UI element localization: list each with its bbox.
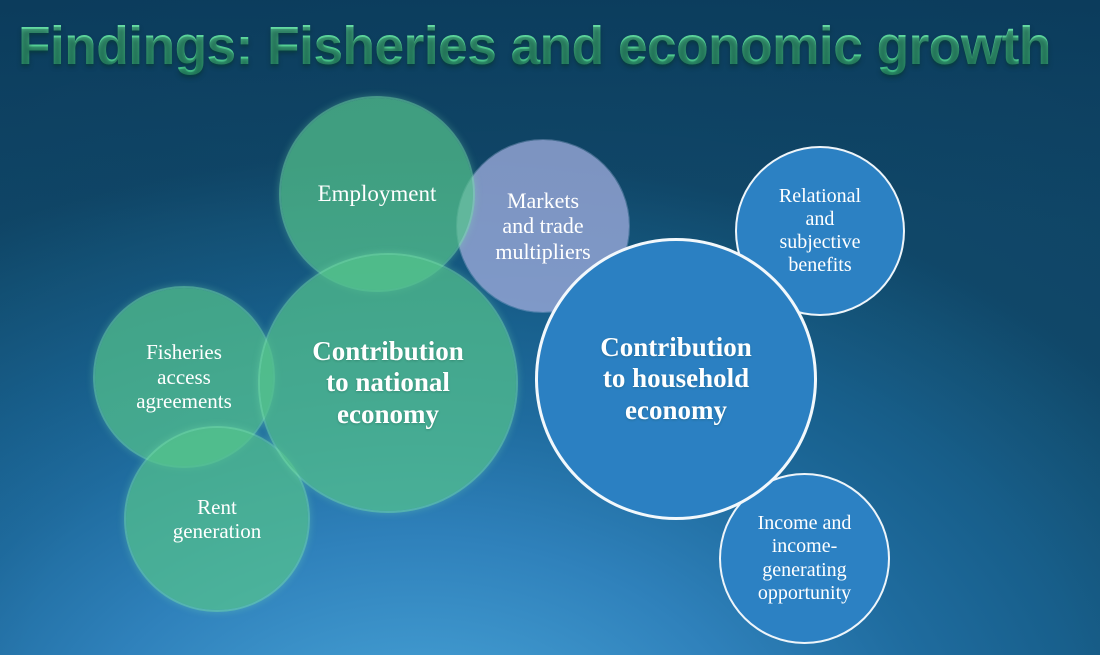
bubble-household-line-2: to household: [603, 363, 749, 393]
bubble-fisheries-line-1: Fisheries: [146, 340, 222, 364]
bubble-household-line-1: Contribution: [600, 332, 752, 362]
bubble-relational-line-2: and: [806, 208, 835, 230]
page-title: Findings: Fisheries and economic growth: [18, 10, 1066, 82]
bubble-relational-line-1: Relational: [779, 185, 861, 207]
bubble-income-line-1: Income and: [758, 512, 852, 534]
bubble-relational-line-4: benefits: [788, 254, 851, 276]
bubble-income-label: Income and income- generating opportunit…: [752, 512, 858, 605]
bubble-national-label: Contribution to national economy: [306, 336, 470, 430]
bubble-national-line-1: Contribution: [312, 336, 464, 366]
bubble-income-line-2: income-: [772, 535, 838, 557]
bubble-national-line-3: economy: [337, 399, 439, 429]
bubble-rent-label: Rent generation: [167, 495, 268, 544]
bubble-fisheries-label: Fisheries access agreements: [130, 340, 238, 413]
bubble-household-line-3: economy: [625, 395, 727, 425]
bubble-relational-label: Relational and subjective benefits: [773, 185, 867, 278]
bubble-income-line-4: opportunity: [758, 582, 851, 604]
bubble-fisheries-line-3: agreements: [136, 389, 232, 413]
bubble-household-label: Contribution to household economy: [594, 332, 758, 426]
bubble-relational-line-3: subjective: [779, 231, 860, 253]
bubble-employment-label: Employment: [312, 181, 443, 208]
bubble-markets-line-3: multipliers: [495, 239, 590, 264]
bubble-rent-line-1: Rent: [197, 495, 237, 519]
bubble-rent-line-2: generation: [173, 519, 262, 543]
bubble-contribution-to-national-economy[interactable]: Contribution to national economy: [260, 255, 516, 511]
bubble-rent-generation[interactable]: Rent generation: [126, 428, 308, 610]
bubble-fisheries-line-2: access: [157, 365, 211, 389]
bubble-contribution-to-household-economy[interactable]: Contribution to household economy: [535, 238, 817, 520]
bubble-national-line-2: to national: [326, 367, 450, 397]
bubble-markets-line-2: and trade: [502, 213, 583, 238]
slide-canvas: Findings: Fisheries and economic growth …: [0, 0, 1100, 655]
bubble-markets-line-1: Markets: [507, 188, 579, 213]
bubble-markets-label: Markets and trade multipliers: [489, 188, 596, 265]
bubble-income-line-3: generating: [762, 559, 846, 581]
